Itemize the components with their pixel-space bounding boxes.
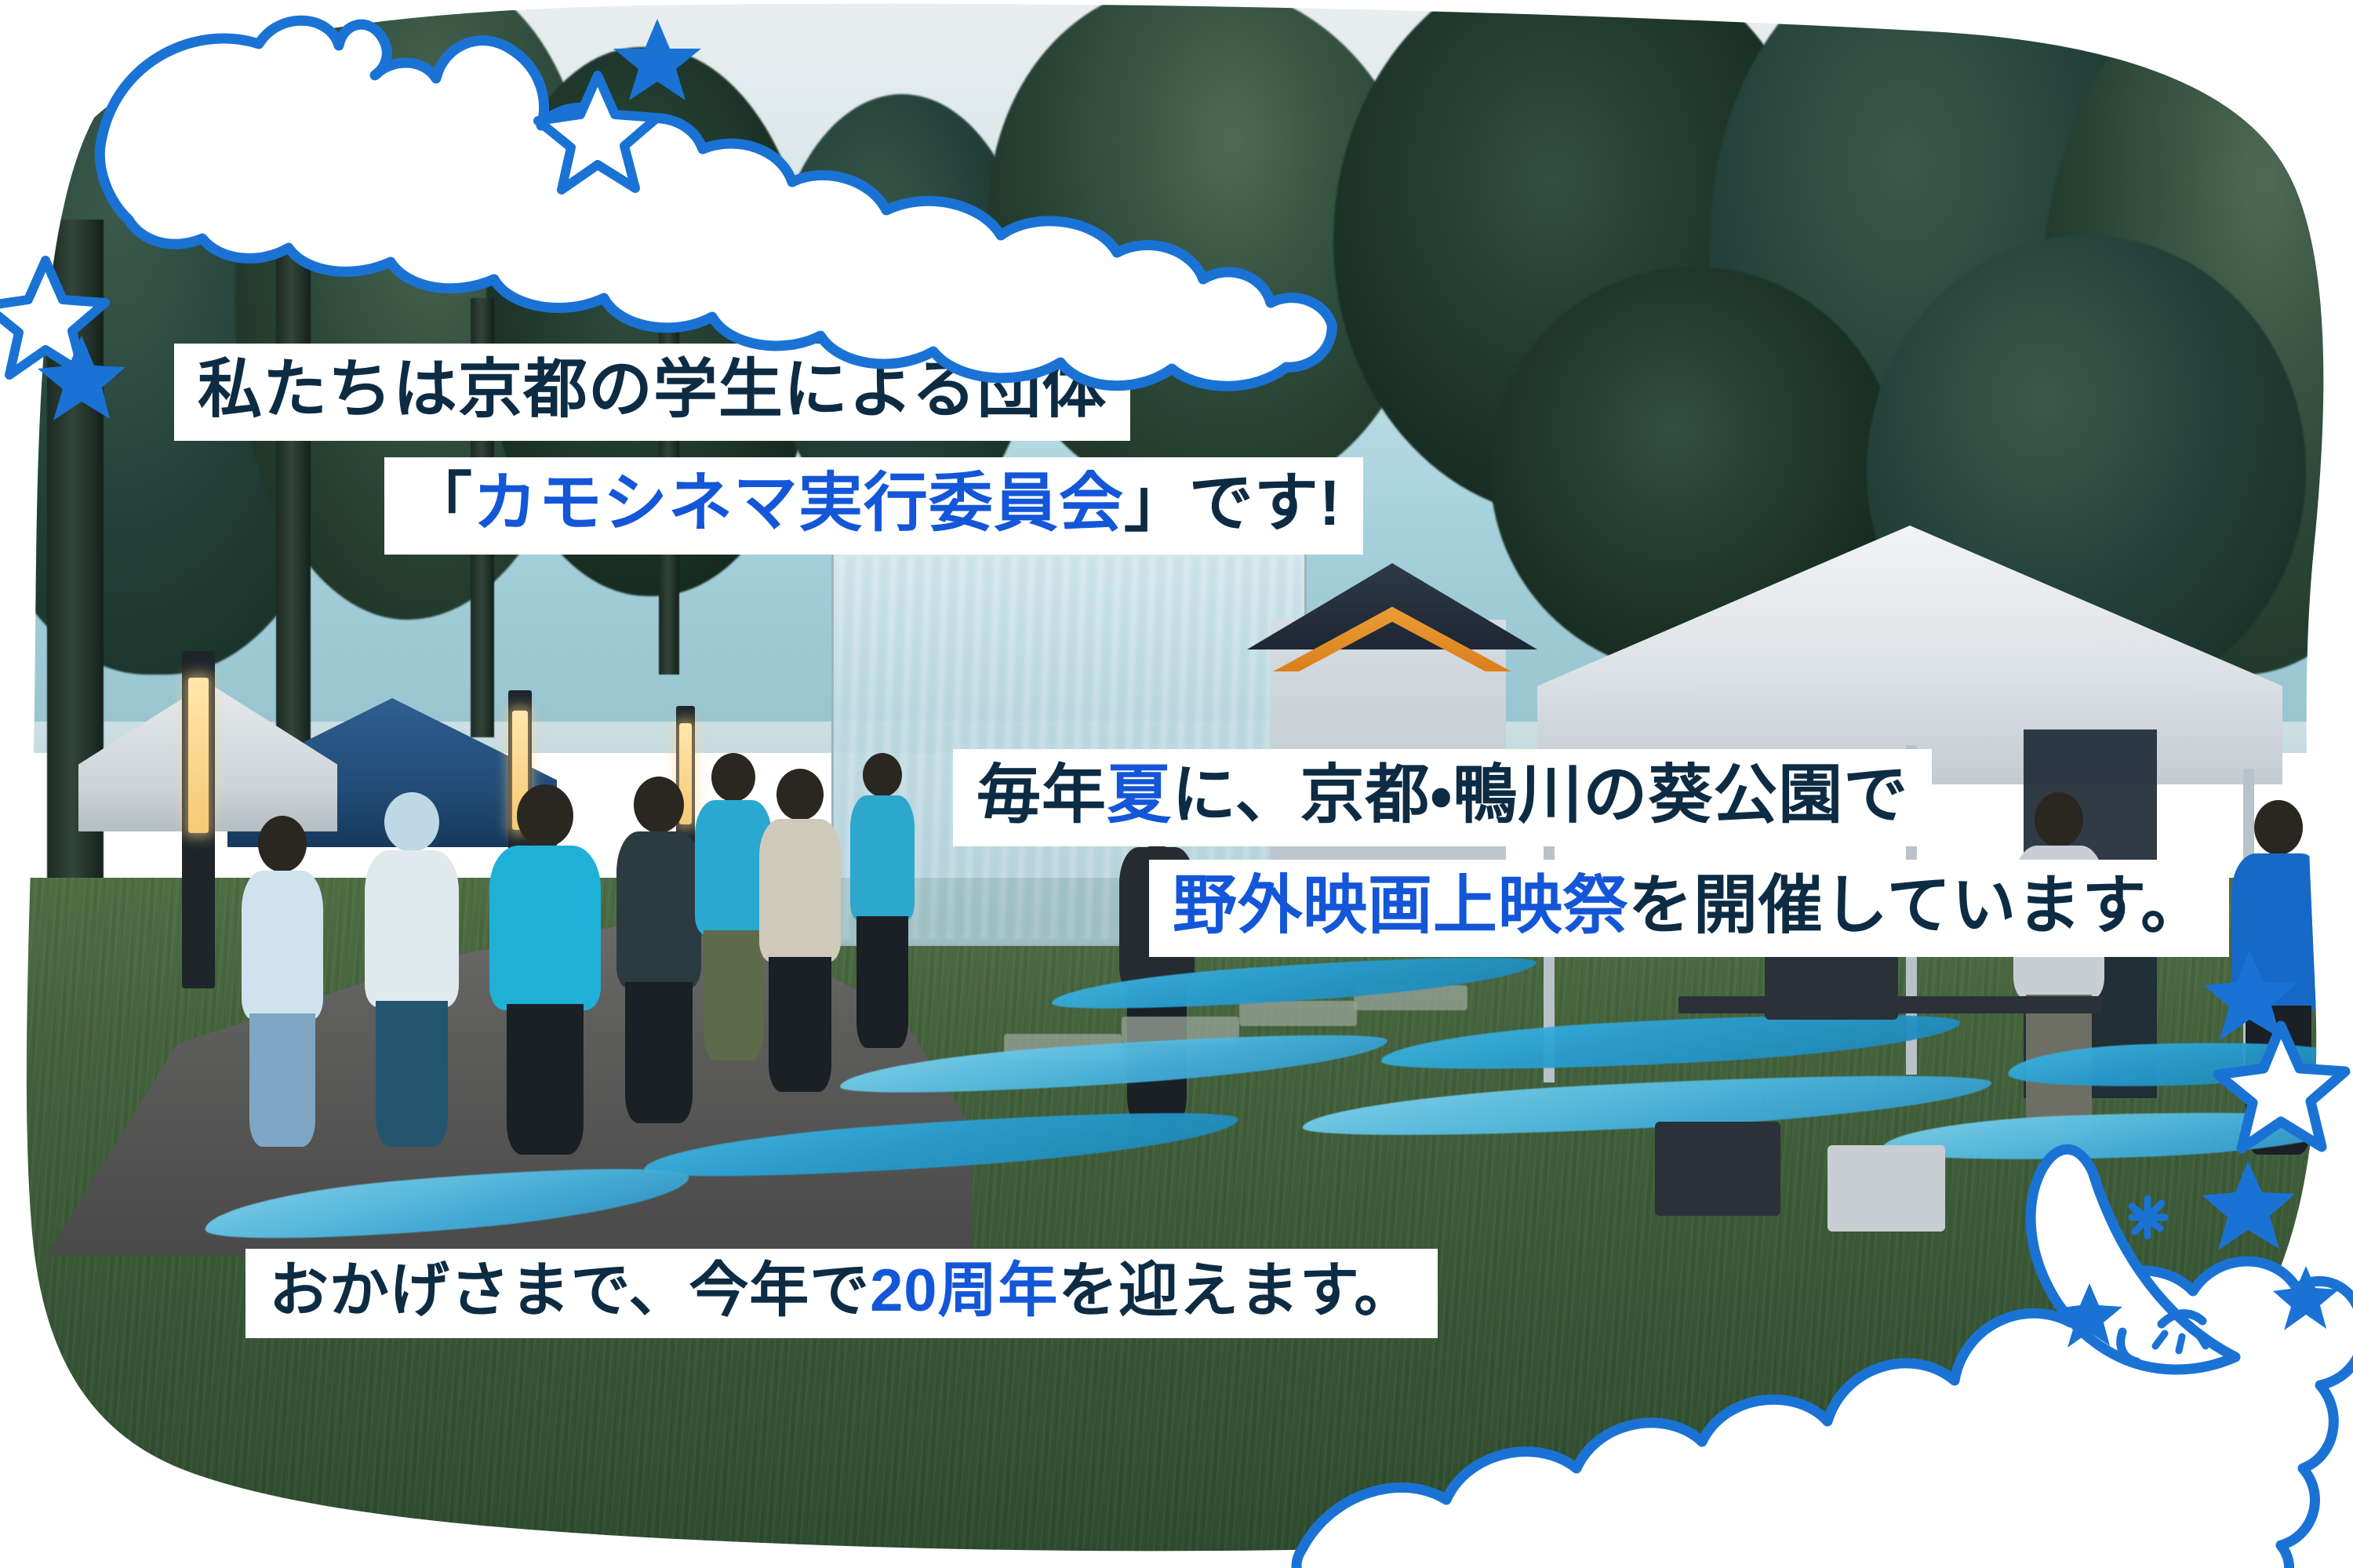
- visitor: [847, 753, 918, 1051]
- caption-box-2: 「 カモシネマ実行委員会 」です!: [384, 457, 1363, 555]
- equipment-crate: [1827, 1145, 1945, 1231]
- caption-2-org-name: カモシネマ実行委員会: [473, 471, 1124, 536]
- visitor: [753, 769, 847, 1098]
- star-filled-bottom-right-b-icon: [2273, 1266, 2339, 1330]
- visitor: [361, 792, 463, 1145]
- path-lantern: [182, 651, 215, 988]
- caption-3-season: 夏: [1107, 763, 1172, 828]
- caption-box-1: 私たちは京都の学生による団体: [174, 344, 1130, 441]
- visitor: [235, 816, 329, 1145]
- staff-member: [2228, 800, 2329, 1161]
- caption-box-4: 野外映画上映祭 を開催しています。: [1149, 860, 2229, 957]
- caption-3-location: に、京都・鴨川の葵公園で: [1172, 763, 1908, 828]
- equipment-case: [1655, 1122, 1780, 1216]
- poster-canvas: 私たちは京都の学生による団体 「 カモシネマ実行委員会 」です! 毎年 夏 に、…: [0, 0, 2353, 1568]
- caption-5-lead: おかげさまで、今年で: [269, 1261, 870, 1321]
- caption-box-3: 毎年 夏 に、京都・鴨川の葵公園で: [953, 749, 1932, 846]
- caption-box-5: おかげさまで、今年で 20周年 を迎えます。: [245, 1249, 1438, 1338]
- caption-2-tail: 」です!: [1124, 471, 1341, 536]
- caption-2-open-bracket: 「: [408, 471, 473, 536]
- staff-member: [2008, 792, 2110, 1145]
- caption-1-text: 私たちは京都の学生による団体: [198, 358, 1107, 422]
- caption-4-event-name: 野外映画上映祭: [1173, 874, 1628, 938]
- staff-member: [486, 784, 604, 1153]
- caption-5-anniversary: 20周年: [870, 1261, 1058, 1321]
- caption-3-lead: 毎年: [976, 763, 1107, 828]
- caption-5-tail: を迎えます。: [1058, 1261, 1414, 1321]
- stepping-stone: [1239, 1001, 1357, 1026]
- caption-4-tail: を開催しています。: [1628, 874, 2206, 938]
